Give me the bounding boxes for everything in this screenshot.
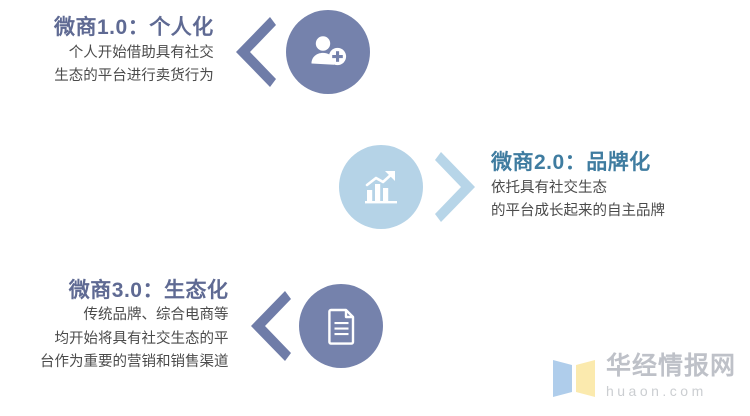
stage-1-description: 个人开始借助具有社交 生态的平台进行卖货行为 [54, 42, 214, 89]
stage-3-desc-line-1: 传统品牌、综合电商等 [40, 304, 229, 327]
stage-2-description: 依托具有社交生态 的平台成长起来的自主品牌 [491, 177, 665, 224]
user-plus-icon [306, 30, 350, 74]
watermark: 华经情报网 huaon.com [551, 354, 736, 398]
stage-1-text-block: 微商1.0：个人化 个人开始借助具有社交 生态的平台进行卖货行为 [54, 15, 214, 88]
infographic-canvas: 微商1.0：个人化 个人开始借助具有社交 生态的平台进行卖货行为 [0, 0, 750, 416]
stage-1-title: 微商1.0：个人化 [54, 15, 214, 41]
stage-2-text-block: 微商2.0：品牌化 依托具有社交生态 的平台成长起来的自主品牌 [491, 150, 665, 223]
stage-1-icon-circle [286, 10, 370, 94]
stage-3-desc-line-2: 均开始将具有社交生态的平 [40, 328, 229, 351]
stage-2-icon-circle [339, 145, 423, 229]
growth-chart-icon [359, 165, 403, 209]
stage-2-desc-line-1: 依托具有社交生态 [491, 177, 665, 200]
watermark-url: huaon.com [606, 384, 736, 398]
watermark-name: 华经情报网 [606, 354, 736, 379]
stage-1-desc-line-1: 个人开始借助具有社交 [54, 42, 214, 65]
stage-row-3: 微商3.0：生态化 传统品牌、综合电商等 均开始将具有社交生态的平 台作为重要的… [40, 278, 383, 375]
stage-row-2: 微商2.0：品牌化 依托具有社交生态 的平台成长起来的自主品牌 [339, 145, 665, 229]
huaon-logo-icon [551, 354, 597, 398]
stage-3-title: 微商3.0：生态化 [69, 278, 229, 304]
stage-3-desc-line-3: 台作为重要的营销和销售渠道 [40, 351, 229, 374]
stage-2-title: 微商2.0：品牌化 [491, 150, 651, 176]
stage-3-text-block: 微商3.0：生态化 传统品牌、综合电商等 均开始将具有社交生态的平 台作为重要的… [40, 278, 229, 375]
stage-3-icon-circle [299, 284, 383, 368]
chevron-left-icon-1 [230, 15, 276, 89]
stage-2-desc-line-2: 的平台成长起来的自主品牌 [491, 200, 665, 223]
watermark-text: 华经情报网 huaon.com [606, 354, 736, 398]
stage-3-description: 传统品牌、综合电商等 均开始将具有社交生态的平 台作为重要的营销和销售渠道 [40, 304, 229, 374]
stage-1-desc-line-2: 生态的平台进行卖货行为 [54, 65, 214, 88]
chevron-left-icon-3 [245, 289, 291, 363]
stage-row-1: 微商1.0：个人化 个人开始借助具有社交 生态的平台进行卖货行为 [54, 10, 370, 94]
chevron-right-icon-2 [435, 150, 481, 224]
document-icon [319, 304, 363, 348]
